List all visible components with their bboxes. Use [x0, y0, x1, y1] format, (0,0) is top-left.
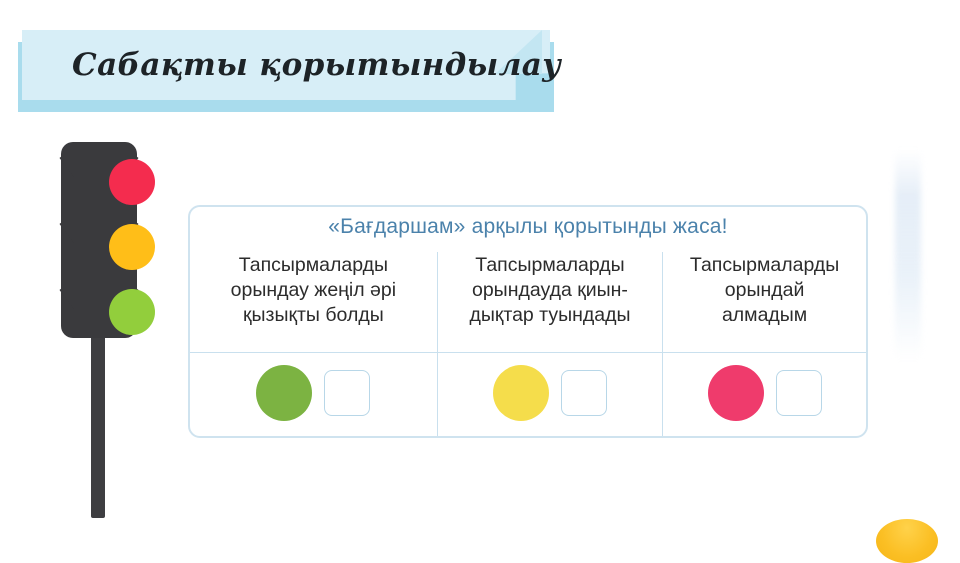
green-lamp: [109, 289, 155, 335]
column-red: Тапсырмаларды орындай алмадым: [663, 252, 866, 436]
title-banner: Сабақты қорытындылау: [14, 30, 554, 112]
page-title: Сабақты қорытындылау: [72, 30, 512, 100]
panel-columns: Тапсырмаларды орындау жеңіл әрі қызықты …: [190, 252, 866, 436]
slide-canvas: Сабақты қорытындылау «Бағдаршам» арқылы …: [0, 0, 960, 540]
column-yellow-line-1: Тапсырмаларды: [469, 253, 630, 278]
visor-left-red: [58, 156, 96, 178]
green-checkbox[interactable]: [324, 370, 370, 416]
bottom-right-yellow-arc: [876, 519, 938, 563]
column-yellow-line-2: орындауда қиын-: [469, 278, 630, 303]
column-green-answer-row: [190, 353, 437, 436]
yellow-circle-marker: [493, 365, 549, 421]
yellow-lamp: [109, 224, 155, 270]
column-red-text: Тапсырмаларды орындай алмадым: [663, 252, 866, 353]
visor-left-yellow: [58, 222, 96, 244]
column-yellow-answer-row: [438, 353, 662, 436]
column-yellow-text: Тапсырмаларды орындауда қиын- дықтар туы…: [438, 252, 662, 353]
column-green-line-3: қызықты болды: [231, 303, 396, 328]
background-light-streak: [895, 150, 921, 360]
column-green-line-1: Тапсырмаларды: [231, 253, 396, 278]
column-red-line-1: Тапсырмаларды: [690, 253, 839, 278]
column-yellow-line-3: дықтар туындады: [469, 303, 630, 328]
column-green: Тапсырмаларды орындау жеңіл әрі қызықты …: [190, 252, 437, 436]
red-checkbox[interactable]: [776, 370, 822, 416]
column-green-text: Тапсырмаларды орындау жеңіл әрі қызықты …: [190, 252, 437, 353]
panel-title: «Бағдаршам» арқылы қорытынды жаса!: [190, 215, 866, 239]
column-green-line-2: орындау жеңіл әрі: [231, 278, 396, 303]
column-red-line-3: алмадым: [690, 303, 839, 328]
traffic-light-illustration: [28, 138, 180, 518]
green-circle-marker: [256, 365, 312, 421]
red-circle-marker: [708, 365, 764, 421]
reflection-panel: «Бағдаршам» арқылы қорытынды жаса! Тапсы…: [188, 205, 868, 438]
column-yellow: Тапсырмаларды орындауда қиын- дықтар туы…: [437, 252, 663, 436]
visor-left-green: [58, 288, 96, 310]
traffic-light-pole: [91, 328, 105, 518]
column-red-answer-row: [663, 353, 866, 436]
yellow-checkbox[interactable]: [561, 370, 607, 416]
column-red-line-2: орындай: [690, 278, 839, 303]
red-lamp: [109, 159, 155, 205]
traffic-light-housing: [61, 142, 137, 338]
